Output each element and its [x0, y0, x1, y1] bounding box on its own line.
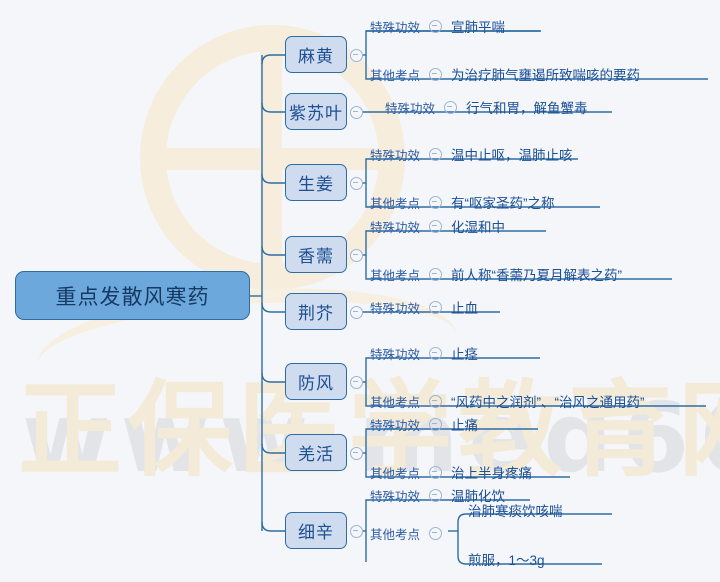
collapse-minus-icon[interactable] — [429, 527, 442, 540]
leaf-value: 治肺寒痰饮咳喘 — [468, 500, 563, 520]
collapse-toggle-zisuye[interactable] — [350, 106, 363, 119]
leaf-row-qianghuo-other[interactable]: 其他考点 治上半身疼痛 — [370, 462, 532, 482]
leaf-value: 行气和胃，解鱼蟹毒 — [466, 97, 588, 117]
leaf-value: “风药中之润剂”、“治风之通用药” — [451, 391, 644, 411]
branch-label: 荆芥 — [298, 299, 334, 324]
leaf-label: 特殊功效 — [370, 415, 420, 434]
collapse-toggle-fangfeng[interactable] — [350, 376, 363, 389]
leaf-row-shengjiang-other[interactable]: 其他考点 有“呕家圣药”之称 — [370, 192, 555, 212]
collapse-minus-icon[interactable] — [429, 466, 442, 479]
leaf-value: 止痛 — [451, 414, 478, 434]
branch-label: 细辛 — [298, 518, 334, 543]
branch-node-qianghuo[interactable]: 羌活 — [285, 434, 347, 471]
leaf-label: 其他考点 — [370, 65, 420, 84]
leaf-value: 有“呕家圣药”之称 — [451, 192, 555, 212]
branch-label: 香薷 — [298, 242, 334, 267]
leaf-value: 为治疗肺气壅遏所致喘咳的要药 — [451, 64, 640, 84]
collapse-toggle-xixin[interactable] — [350, 525, 363, 538]
mindmap-canvas: www.med66.com 正保医学教育网 — [0, 0, 720, 582]
collapse-toggle-xiangru[interactable] — [350, 249, 363, 262]
collapse-minus-icon[interactable] — [444, 101, 457, 114]
leaf-row-xixin-nested-2[interactable]: 煎服，1～3g — [468, 549, 545, 569]
branch-node-jingjie[interactable]: 荆芥 — [285, 293, 347, 330]
collapse-toggle-mahuang[interactable] — [350, 49, 363, 62]
branch-node-xixin[interactable]: 细辛 — [285, 512, 347, 549]
leaf-value: 宣肺平喘 — [451, 16, 505, 36]
collapse-minus-icon[interactable] — [429, 347, 442, 360]
collapse-minus-icon[interactable] — [429, 489, 442, 502]
collapse-minus-icon[interactable] — [429, 220, 442, 233]
branch-label: 麻黄 — [298, 42, 334, 67]
leaf-row-xixin-other[interactable]: 其他考点 — [370, 524, 451, 543]
collapse-minus-icon[interactable] — [429, 418, 442, 431]
collapse-minus-icon[interactable] — [429, 301, 442, 314]
collapse-minus-icon[interactable] — [429, 268, 442, 281]
collapse-minus-icon[interactable] — [429, 68, 442, 81]
collapse-minus-icon[interactable] — [429, 148, 442, 161]
collapse-toggle-shengjiang[interactable] — [350, 177, 363, 190]
collapse-minus-icon[interactable] — [429, 196, 442, 209]
leaf-value: 止痉 — [451, 343, 478, 363]
leaf-value: 化湿和中 — [451, 216, 505, 236]
leaf-label: 特殊功效 — [370, 344, 420, 363]
leaf-label: 特殊功效 — [370, 17, 420, 36]
branch-node-shengjiang[interactable]: 生姜 — [285, 164, 347, 201]
leaf-row-xiangru-special[interactable]: 特殊功效 化湿和中 — [370, 216, 505, 236]
branch-label: 防风 — [298, 369, 334, 394]
leaf-label: 特殊功效 — [370, 298, 420, 317]
collapse-toggle-jingjie[interactable] — [350, 306, 363, 319]
root-node-label: 重点发散风寒药 — [56, 281, 210, 311]
leaf-label: 特殊功效 — [385, 98, 435, 117]
leaf-row-mahuang-special[interactable]: 特殊功效 宣肺平喘 — [370, 16, 505, 36]
leaf-label: 其他考点 — [370, 193, 420, 212]
leaf-label: 其他考点 — [370, 265, 420, 284]
leaf-value: 前人称“香薷乃夏月解表之药” — [451, 264, 622, 284]
collapse-toggle-qianghuo[interactable] — [350, 447, 363, 460]
leaf-label: 特殊功效 — [370, 217, 420, 236]
leaf-label: 其他考点 — [370, 463, 420, 482]
branch-label: 羌活 — [298, 440, 334, 465]
leaf-label: 特殊功效 — [370, 145, 420, 164]
leaf-label: 其他考点 — [370, 524, 420, 543]
collapse-minus-icon[interactable] — [429, 20, 442, 33]
leaf-row-xiangru-other[interactable]: 其他考点 前人称“香薷乃夏月解表之药” — [370, 264, 622, 284]
leaf-row-fangfeng-other[interactable]: 其他考点 “风药中之润剂”、“治风之通用药” — [370, 391, 645, 411]
leaf-row-qianghuo-special[interactable]: 特殊功效 止痛 — [370, 414, 478, 434]
leaf-row-fangfeng-special[interactable]: 特殊功效 止痉 — [370, 343, 478, 363]
leaf-value: 煎服，1～3g — [468, 549, 545, 569]
leaf-row-xixin-nested-1[interactable]: 治肺寒痰饮咳喘 — [468, 500, 563, 520]
collapse-minus-icon[interactable] — [429, 395, 442, 408]
leaf-value: 治上半身疼痛 — [451, 462, 532, 482]
branch-label: 紫苏叶 — [289, 99, 343, 124]
leaf-label: 特殊功效 — [370, 486, 420, 505]
leaf-row-jingjie-special[interactable]: 特殊功效 止血 — [370, 297, 478, 317]
leaf-row-shengjiang-special[interactable]: 特殊功效 温中止呕，温肺止咳 — [370, 144, 573, 164]
branch-label: 生姜 — [298, 170, 334, 195]
leaf-value: 温中止呕，温肺止咳 — [451, 144, 573, 164]
branch-node-mahuang[interactable]: 麻黄 — [285, 36, 347, 73]
branch-node-zisuye[interactable]: 紫苏叶 — [285, 93, 347, 130]
leaf-row-mahuang-other[interactable]: 其他考点 为治疗肺气壅遏所致喘咳的要药 — [370, 64, 640, 84]
root-node[interactable]: 重点发散风寒药 — [15, 271, 250, 320]
branch-node-xiangru[interactable]: 香薷 — [285, 236, 347, 273]
leaf-value: 止血 — [451, 297, 478, 317]
leaf-label: 其他考点 — [370, 392, 420, 411]
leaf-row-zisuye-special[interactable]: 特殊功效 行气和胃，解鱼蟹毒 — [385, 97, 588, 117]
branch-node-fangfeng[interactable]: 防风 — [285, 363, 347, 400]
